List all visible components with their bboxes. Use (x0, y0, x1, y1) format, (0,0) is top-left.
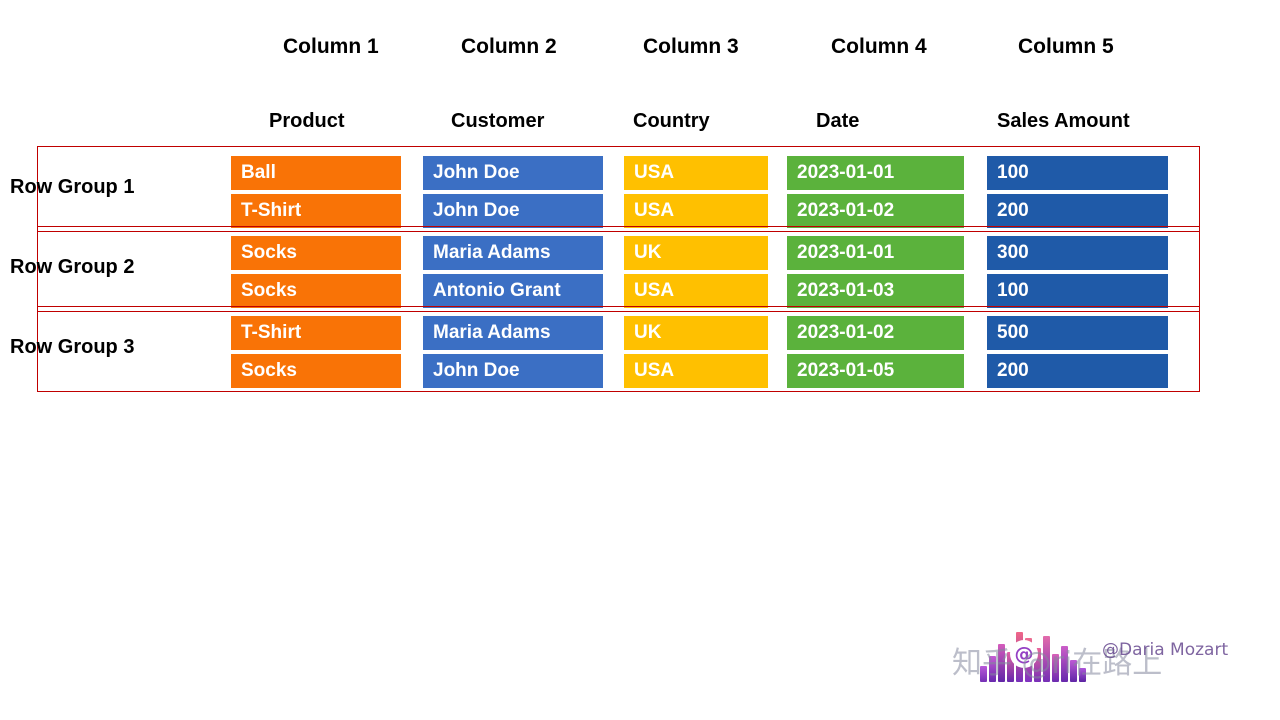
cell-customer[interactable]: Maria Adams (423, 316, 603, 352)
field-header-customer: Customer (451, 101, 544, 141)
cell-sales-amount[interactable]: 100 (987, 274, 1168, 310)
cell-product[interactable]: Ball (231, 156, 401, 192)
column-number-header-2: Column 2 (461, 27, 557, 67)
cell-sales-amount[interactable]: 200 (987, 194, 1168, 230)
cell-country[interactable]: USA (624, 274, 768, 310)
column-number-header-3: Column 3 (643, 27, 739, 67)
cell-country[interactable]: UK (624, 236, 768, 272)
cell-date[interactable]: 2023-01-01 (787, 156, 964, 192)
row-group-label-1: Row Group 1 (10, 176, 134, 199)
watermark: @ 知乎 @ri在路上 @Daria Mozart (952, 618, 1252, 688)
field-header-sales-amount: Sales Amount (997, 101, 1130, 141)
watermark-handle: @Daria Mozart (1102, 640, 1228, 660)
field-header-date: Date (816, 101, 859, 141)
cell-sales-amount[interactable]: 200 (987, 354, 1168, 390)
column-number-header-row: Column 1Column 2Column 3Column 4Column 5 (0, 27, 1280, 67)
cell-sales-amount[interactable]: 100 (987, 156, 1168, 192)
field-header-product: Product (269, 101, 345, 141)
field-header-country: Country (633, 101, 710, 141)
slide-canvas: Column 1Column 2Column 3Column 4Column 5… (0, 0, 1280, 720)
cell-product[interactable]: Socks (231, 274, 401, 310)
cell-product[interactable]: T-Shirt (231, 316, 401, 352)
cell-country[interactable]: USA (624, 194, 768, 230)
cell-date[interactable]: 2023-01-05 (787, 354, 964, 390)
cell-date[interactable]: 2023-01-01 (787, 236, 964, 272)
cell-date[interactable]: 2023-01-02 (787, 316, 964, 352)
row-group-label-2: Row Group 2 (10, 256, 134, 279)
cell-country[interactable]: USA (624, 156, 768, 192)
row-group-label-3: Row Group 3 (10, 336, 134, 359)
cell-product[interactable]: Socks (231, 354, 401, 390)
cell-date[interactable]: 2023-01-03 (787, 274, 964, 310)
cell-customer[interactable]: Antonio Grant (423, 274, 603, 310)
cell-country[interactable]: UK (624, 316, 768, 352)
cell-country[interactable]: USA (624, 354, 768, 390)
column-number-header-4: Column 4 (831, 27, 927, 67)
column-number-header-5: Column 5 (1018, 27, 1114, 67)
column-number-header-1: Column 1 (283, 27, 379, 67)
cell-product[interactable]: Socks (231, 236, 401, 272)
cell-customer[interactable]: John Doe (423, 194, 603, 230)
cell-customer[interactable]: Maria Adams (423, 236, 603, 272)
cell-product[interactable]: T-Shirt (231, 194, 401, 230)
cell-customer[interactable]: John Doe (423, 156, 603, 192)
field-name-header-row: ProductCustomerCountryDateSales Amount (0, 101, 1280, 141)
cell-customer[interactable]: John Doe (423, 354, 603, 390)
cell-sales-amount[interactable]: 300 (987, 236, 1168, 272)
cell-date[interactable]: 2023-01-02 (787, 194, 964, 230)
cell-sales-amount[interactable]: 500 (987, 316, 1168, 352)
